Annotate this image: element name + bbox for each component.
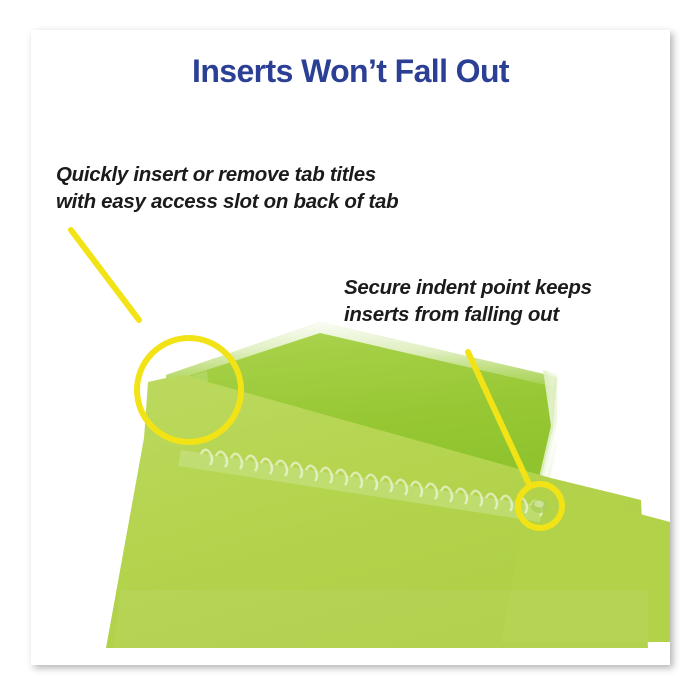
product-feature-graphic: Inserts Won’t Fall Out Quickly insert or… <box>0 0 700 700</box>
white-card: Inserts Won’t Fall Out Quickly insert or… <box>31 30 670 665</box>
callout-label-access-slot: Quickly insert or remove tab titles with… <box>56 161 398 215</box>
product-photo-illustration <box>31 30 670 665</box>
folder-sheen <box>113 590 648 648</box>
product-photo <box>31 30 670 665</box>
page-title: Inserts Won’t Fall Out <box>31 54 670 89</box>
callout-label-indent-point: Secure indent point keeps inserts from f… <box>344 274 592 328</box>
indent-point-highlight <box>534 501 544 508</box>
